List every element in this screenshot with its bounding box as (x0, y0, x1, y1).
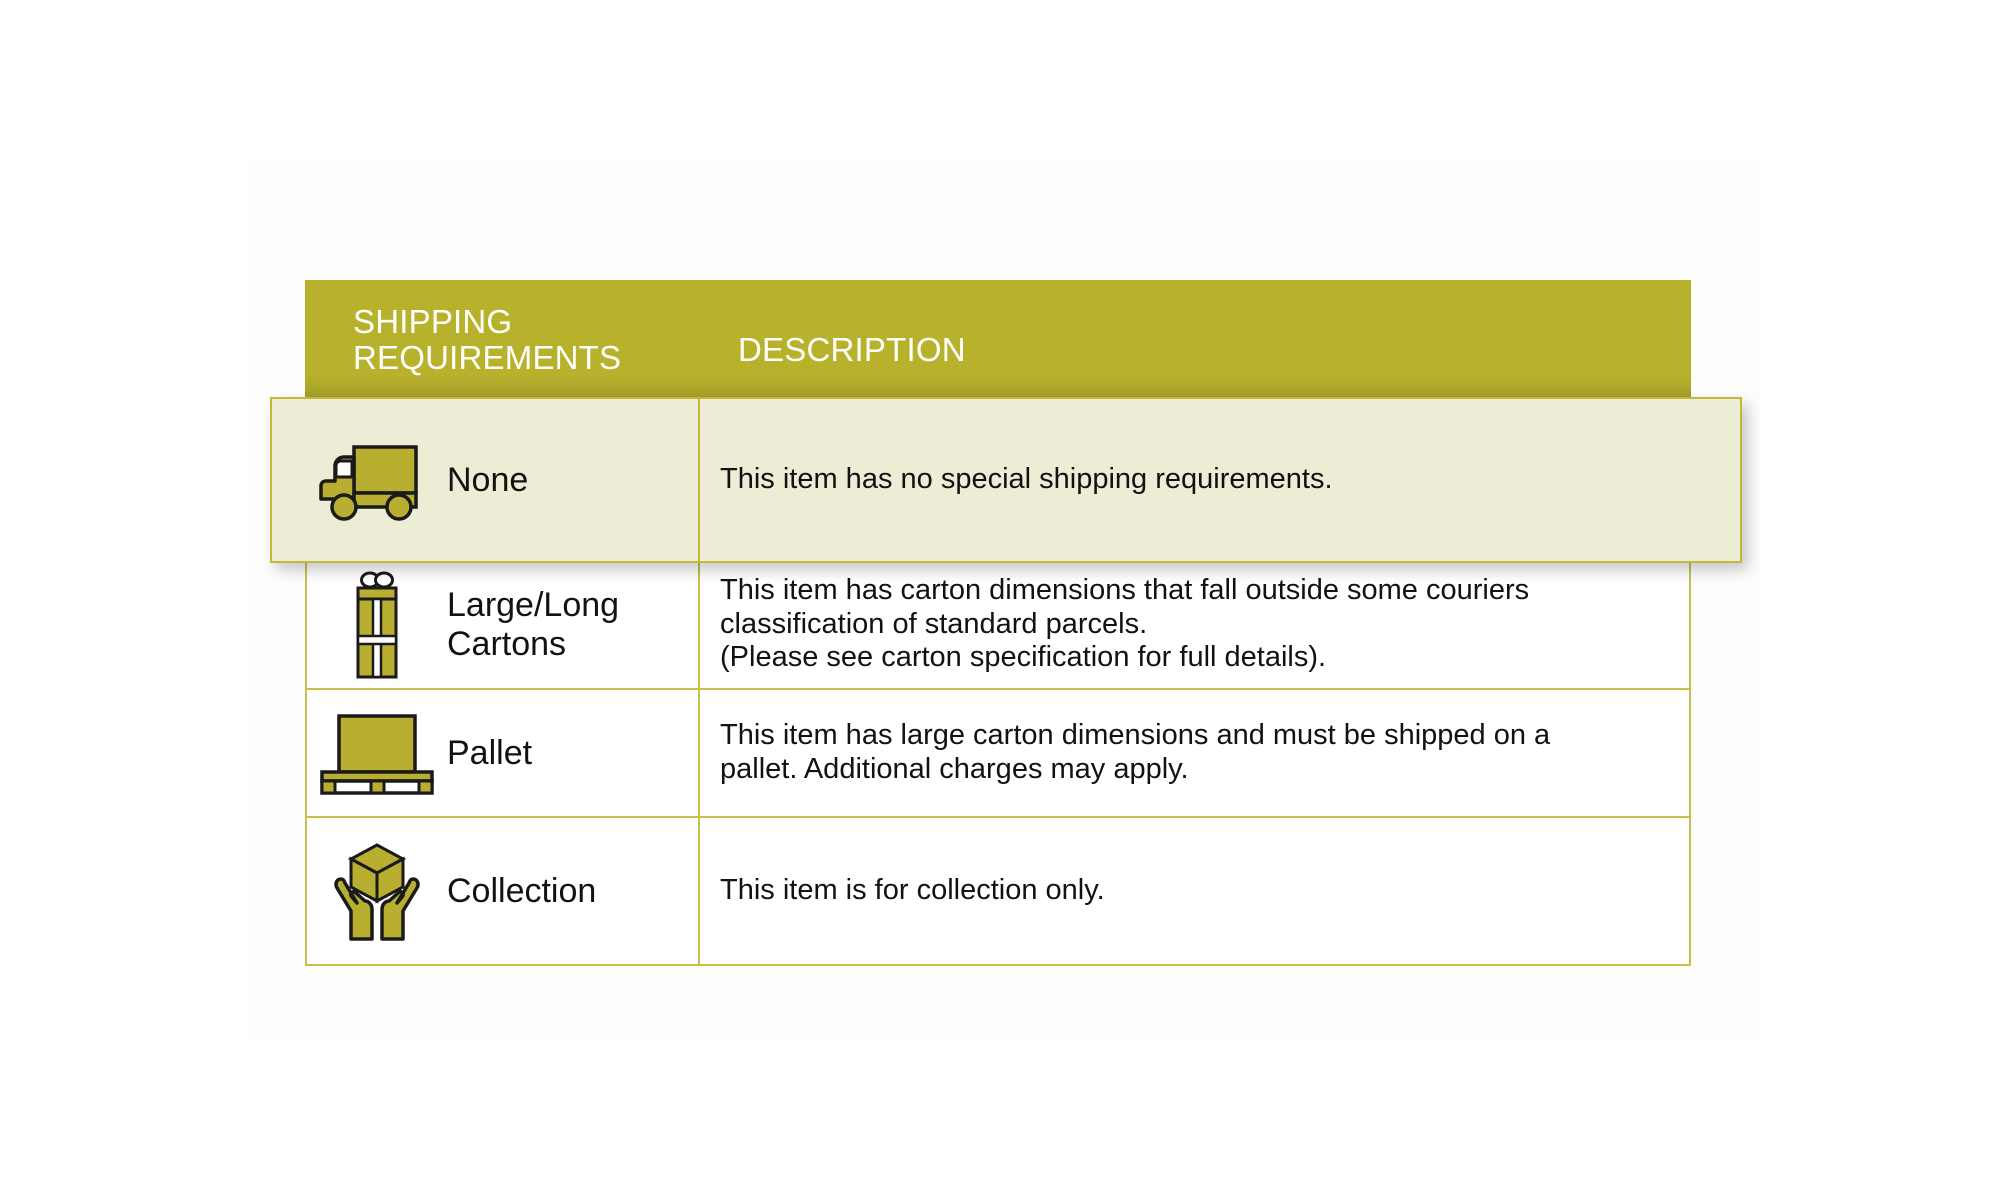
column-header-shipping-requirements: SHIPPING REQUIREMENTS (353, 304, 653, 375)
requirement-cell: Pallet (307, 690, 700, 816)
requirement-cell: Large/Long Cartons (307, 561, 700, 688)
requirement-label: Collection (447, 872, 596, 910)
requirement-cell: Collection (307, 818, 700, 964)
description-text: This item has no special shipping requir… (720, 463, 1333, 497)
table-row[interactable]: Collection This item is for collection o… (307, 818, 1689, 964)
description-cell: This item has carton dimensions that fal… (700, 561, 1689, 688)
description-cell: This item has no special shipping requir… (700, 399, 1740, 561)
description-cell: This item is for collection only. (700, 818, 1689, 964)
slide-stage: SHIPPING REQUIREMENTS DESCRIPTION (0, 0, 2000, 1190)
requirement-cell: None (272, 399, 700, 561)
hands-holding-box-icon (307, 839, 447, 943)
table-row-highlighted[interactable]: None This item has no special shipping r… (270, 397, 1742, 563)
table-row[interactable]: Pallet This item has large carton dimens… (307, 690, 1689, 818)
requirement-label: Large/Long Cartons (447, 586, 619, 662)
table-header-band: SHIPPING REQUIREMENTS DESCRIPTION (305, 280, 1691, 397)
table-row[interactable]: Large/Long Cartons This item has carton … (307, 561, 1689, 690)
description-text: This item has carton dimensions that fal… (720, 574, 1529, 676)
requirement-label: None (447, 461, 528, 499)
pallet-icon (307, 710, 447, 796)
description-cell: This item has large carton dimensions an… (700, 690, 1689, 816)
description-text: This item is for collection only. (720, 874, 1105, 908)
delivery-truck-icon (307, 435, 447, 525)
requirement-label: Pallet (447, 734, 532, 772)
tall-parcel-gift-icon (307, 570, 447, 680)
column-header-description: DESCRIPTION (738, 332, 966, 368)
description-text: This item has large carton dimensions an… (720, 719, 1550, 787)
